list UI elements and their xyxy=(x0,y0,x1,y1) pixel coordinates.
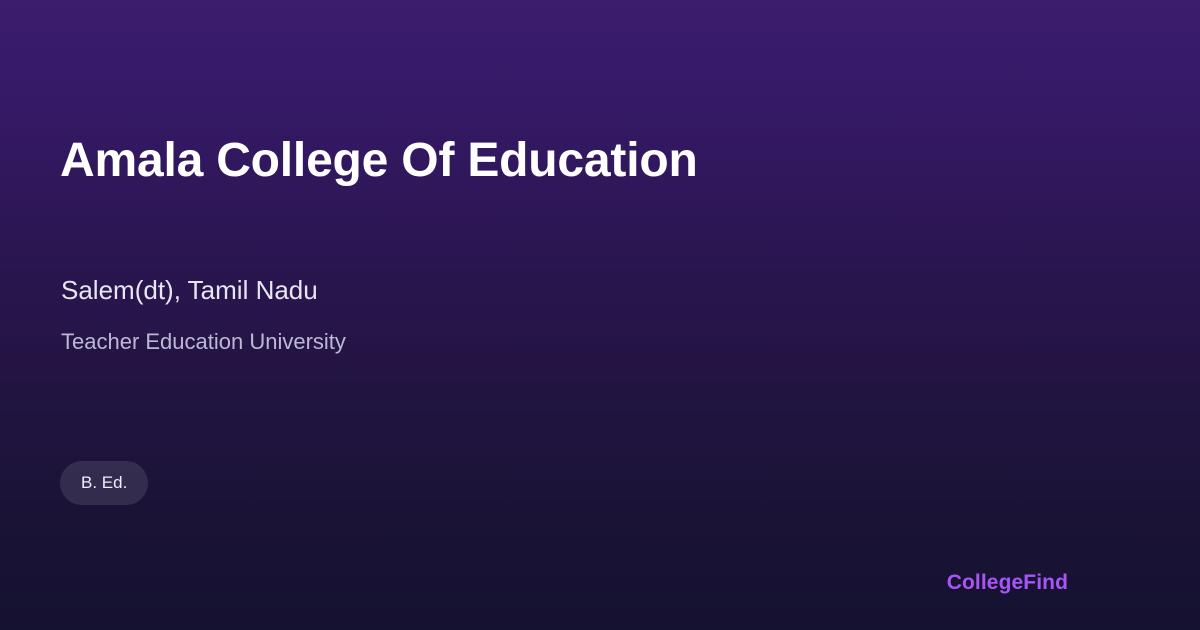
course-tag-list: B. Ed. xyxy=(60,461,148,505)
course-tag-b-ed: B. Ed. xyxy=(60,461,148,505)
college-share-card: Amala College Of Education Salem(dt), Ta… xyxy=(0,0,1200,630)
college-institute-type: Teacher Education University xyxy=(61,327,346,357)
card-content: Amala College Of Education Salem(dt), Ta… xyxy=(60,0,1140,630)
college-location: Salem(dt), Tamil Nadu xyxy=(61,273,318,307)
college-name-title: Amala College Of Education xyxy=(60,130,698,192)
brand-logo-collegefind: CollegeFind xyxy=(947,570,1068,596)
